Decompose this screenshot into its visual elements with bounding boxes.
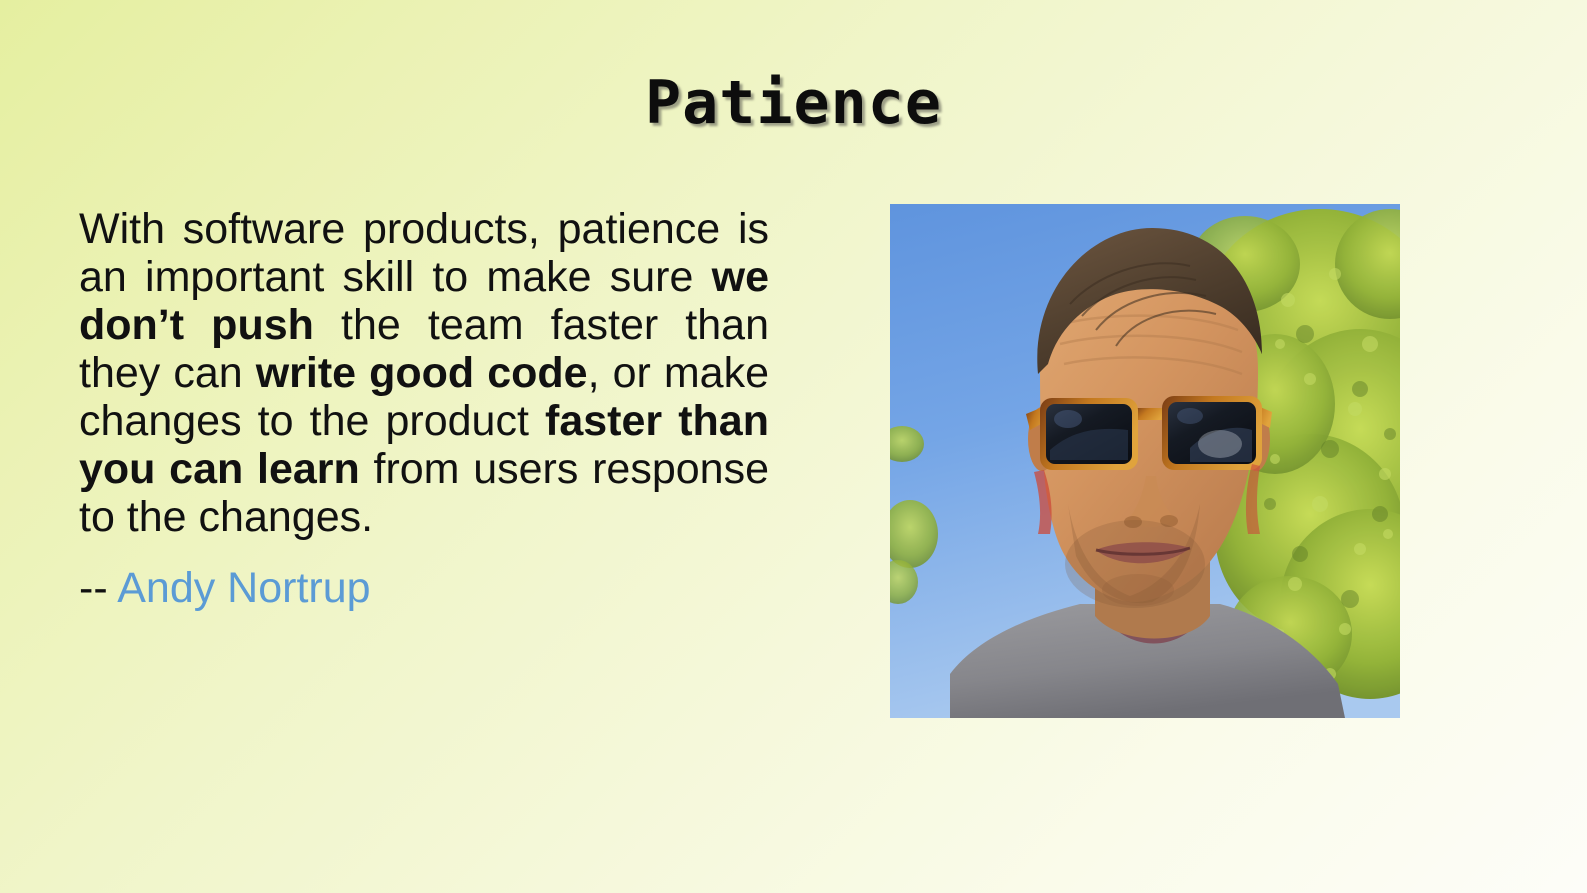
attribution-line: -- Andy Nortrup	[79, 541, 769, 613]
slide-canvas: Patience With software products, patienc…	[0, 0, 1587, 893]
attribution-author: Andy Nortrup	[117, 564, 370, 612]
portrait-photo	[890, 204, 1400, 718]
quote-text: With software products, patience is an i…	[79, 205, 769, 541]
quote-segment-0: With software products, patience is an i…	[79, 205, 769, 301]
portrait-photo-graphic	[890, 204, 1400, 718]
page-title: Patience	[0, 68, 1587, 138]
quote-block: With software products, patience is an i…	[79, 205, 769, 613]
quote-segment-3: write good code	[256, 349, 588, 397]
attribution-dash: --	[79, 564, 108, 612]
